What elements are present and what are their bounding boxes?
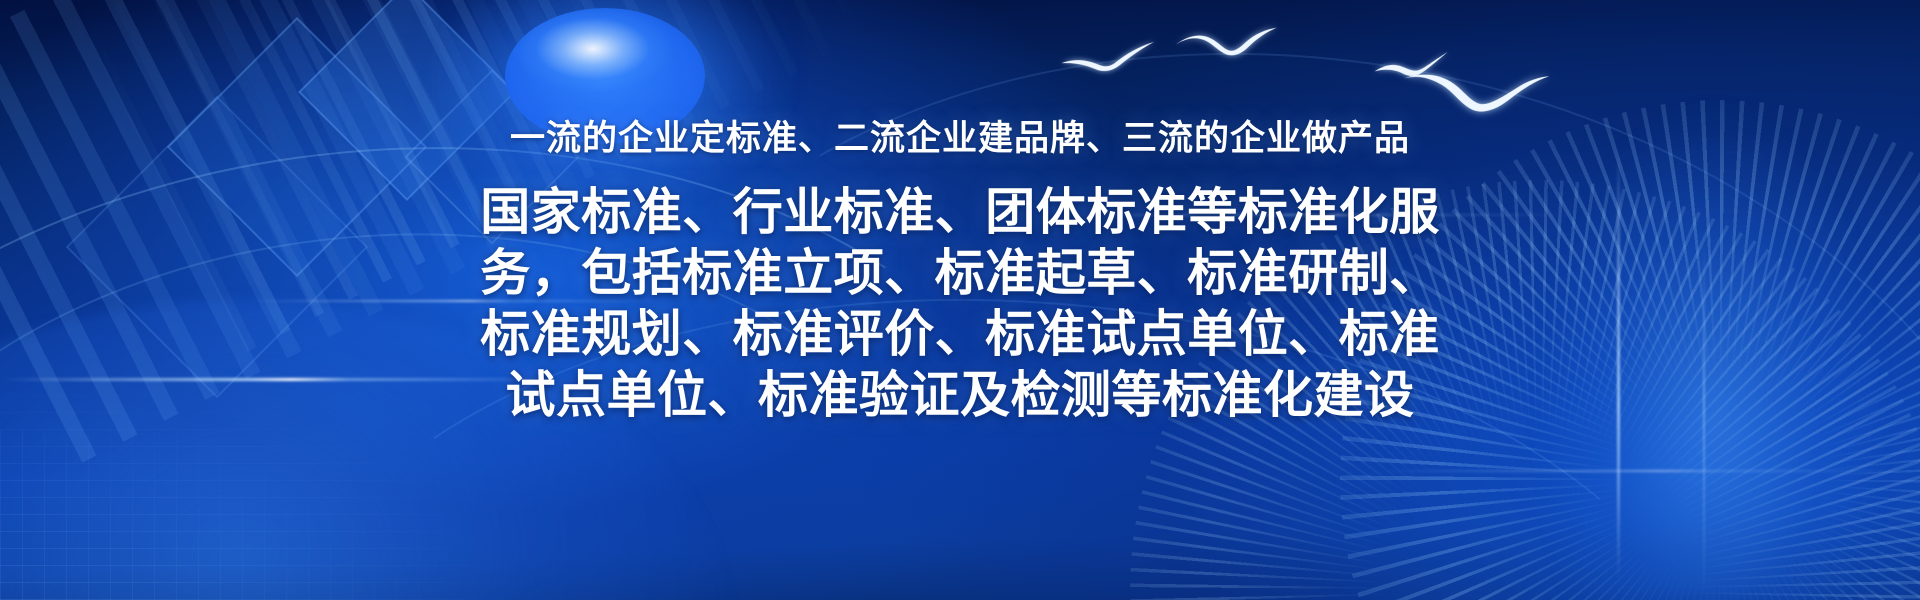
light-streak-d — [1380, 470, 1920, 472]
promotional-banner: 一流的企业定标准、二流企业建品牌、三流的企业做产品 国家标准、行业标准、团体标准… — [0, 0, 1920, 600]
banner-subheadline: 国家标准、行业标准、团体标准等标准化服 务，包括标准立项、标准起草、标准研制、 … — [445, 160, 1475, 426]
banner-text-block: 一流的企业定标准、二流企业建品牌、三流的企业做产品 国家标准、行业标准、团体标准… — [0, 0, 1920, 426]
grid-lines-vertical — [0, 430, 420, 600]
banner-headline: 一流的企业定标准、二流企业建品牌、三流的企业做产品 — [0, 0, 1920, 160]
